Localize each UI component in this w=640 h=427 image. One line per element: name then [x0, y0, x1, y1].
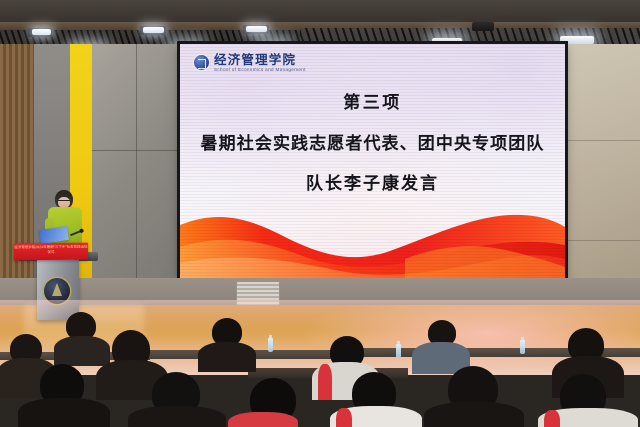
ceiling-light: [246, 26, 267, 32]
water-bottle: [268, 338, 273, 352]
uniform-stripe: [544, 410, 560, 427]
audience-member: [54, 336, 110, 366]
seated-audience: [0, 300, 640, 427]
ceiling-light: [143, 27, 164, 33]
audience-member: [128, 406, 226, 427]
led-scanline-overlay: [180, 44, 565, 279]
ceiling-light: [560, 36, 594, 44]
audience-member: [18, 398, 110, 427]
audience-member: [424, 402, 524, 427]
auditorium-screenshot: 经济管理学院 School of Economics and Managemen…: [0, 0, 640, 427]
glasses-icon: [58, 200, 70, 204]
wall-seam: [563, 140, 640, 141]
audience-member: [228, 412, 298, 427]
water-bottle: [520, 340, 525, 354]
water-bottle: [396, 344, 401, 358]
audience-member: [198, 342, 256, 372]
light-housing: [472, 22, 494, 31]
audience-haze: [0, 300, 640, 330]
podium-banner: 经济管理学院2024年暑期“三下乡”社会实践出征仪式: [14, 243, 88, 261]
ceiling: [0, 0, 640, 46]
podium-banner-text: 经济管理学院2024年暑期“三下乡”社会实践出征仪式: [14, 245, 88, 256]
wood-slat-wall: [0, 44, 34, 314]
led-display: 经济管理学院 School of Economics and Managemen…: [180, 44, 565, 279]
wall-seam: [563, 240, 640, 241]
wall-seam: [136, 44, 137, 316]
uniform-stripe: [336, 408, 352, 427]
ceiling-light: [32, 29, 51, 35]
uniform-stripe: [318, 364, 332, 400]
